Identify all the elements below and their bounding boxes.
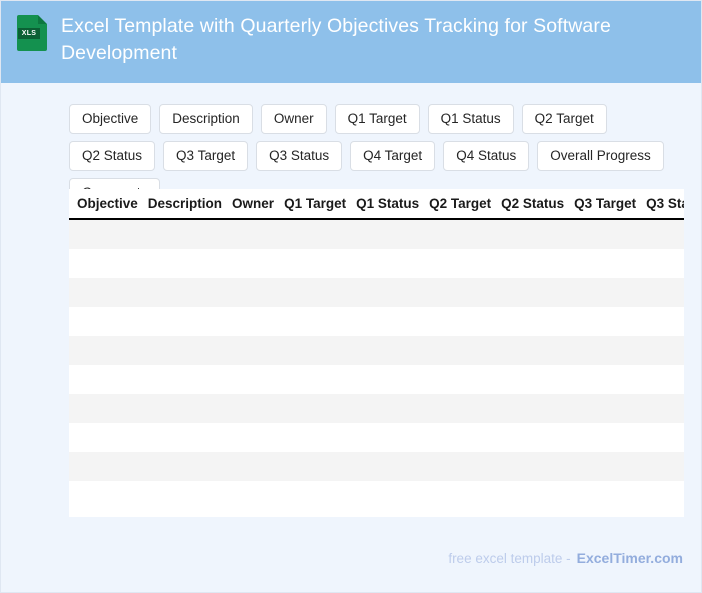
table-cell[interactable] — [429, 394, 501, 423]
table-cell[interactable] — [232, 365, 284, 394]
table-cell[interactable] — [232, 249, 284, 278]
table-cell[interactable] — [356, 249, 429, 278]
table-cell[interactable] — [646, 336, 684, 365]
table-cell[interactable] — [232, 481, 284, 510]
table-cell[interactable] — [356, 219, 429, 249]
table-cell[interactable] — [429, 481, 501, 510]
table-cell[interactable] — [69, 452, 148, 481]
table-cell[interactable] — [284, 365, 356, 394]
table-cell[interactable] — [646, 423, 684, 452]
table-cell[interactable] — [148, 394, 232, 423]
table-cell[interactable] — [284, 423, 356, 452]
table-cell[interactable] — [574, 452, 646, 481]
column-chip[interactable]: Description — [159, 104, 253, 134]
table-row[interactable] — [69, 336, 684, 365]
column-chip[interactable]: Q4 Target — [350, 141, 435, 171]
table-cell[interactable] — [574, 307, 646, 336]
table-cell[interactable] — [356, 307, 429, 336]
table-row[interactable] — [69, 307, 684, 336]
table-row[interactable] — [69, 249, 684, 278]
table-cell[interactable] — [646, 481, 684, 510]
xls-file-icon: XLS — [17, 15, 47, 51]
table-cell[interactable] — [69, 481, 148, 510]
table-cell[interactable] — [501, 219, 574, 249]
table-row[interactable] — [69, 394, 684, 423]
table-cell[interactable] — [284, 278, 356, 307]
table-cell[interactable] — [284, 307, 356, 336]
column-chip[interactable]: Q2 Target — [522, 104, 607, 134]
table-cell[interactable] — [429, 249, 501, 278]
table-cell[interactable] — [284, 394, 356, 423]
column-chip[interactable]: Objective — [69, 104, 151, 134]
table-row[interactable] — [69, 365, 684, 394]
table-cell[interactable] — [429, 365, 501, 394]
page-title: Excel Template with Quarterly Objectives… — [61, 13, 681, 67]
table-cell[interactable] — [501, 249, 574, 278]
table-cell[interactable] — [69, 394, 148, 423]
table-column-header: Q2 Target — [429, 189, 501, 219]
table-cell[interactable] — [69, 219, 148, 249]
table-column-header: Q2 Status — [501, 189, 574, 219]
table-cell[interactable] — [232, 336, 284, 365]
table-cell[interactable] — [646, 365, 684, 394]
table-cell[interactable] — [574, 481, 646, 510]
table-cell[interactable] — [429, 423, 501, 452]
table-cell[interactable] — [232, 219, 284, 249]
table-row[interactable] — [69, 278, 684, 307]
table-cell[interactable] — [148, 423, 232, 452]
table-cell[interactable] — [574, 394, 646, 423]
table-cell[interactable] — [574, 278, 646, 307]
table-cell[interactable] — [646, 452, 684, 481]
table-cell[interactable] — [574, 219, 646, 249]
table-cell[interactable] — [232, 278, 284, 307]
table-cell[interactable] — [646, 307, 684, 336]
table-cell[interactable] — [356, 394, 429, 423]
table-cell[interactable] — [646, 394, 684, 423]
table-cell[interactable] — [501, 336, 574, 365]
table-column-header: Owner — [232, 189, 284, 219]
table-cell[interactable] — [501, 278, 574, 307]
column-chip[interactable]: Q1 Target — [335, 104, 420, 134]
table-cell[interactable] — [429, 452, 501, 481]
table-cell[interactable] — [356, 365, 429, 394]
template-table: ObjectiveDescriptionOwnerQ1 TargetQ1 Sta… — [69, 189, 684, 510]
table-column-header: Q3 Status — [646, 189, 684, 219]
table-column-header: Q1 Status — [356, 189, 429, 219]
footer-brand-link[interactable]: ExcelTimer.com — [577, 550, 683, 566]
table-cell[interactable] — [501, 307, 574, 336]
table-cell[interactable] — [284, 219, 356, 249]
table-cell[interactable] — [574, 423, 646, 452]
table-cell[interactable] — [284, 452, 356, 481]
table-column-header: Objective — [69, 189, 148, 219]
table-cell[interactable] — [232, 394, 284, 423]
table-cell[interactable] — [356, 423, 429, 452]
table-cell[interactable] — [284, 249, 356, 278]
table-cell[interactable] — [356, 452, 429, 481]
table-column-header: Q1 Target — [284, 189, 356, 219]
table-cell[interactable] — [429, 219, 501, 249]
table-cell[interactable] — [148, 307, 232, 336]
template-table-container: ObjectiveDescriptionOwnerQ1 TargetQ1 Sta… — [69, 189, 684, 517]
template-page: XLS Excel Template with Quarterly Object… — [0, 0, 702, 593]
table-header-row: ObjectiveDescriptionOwnerQ1 TargetQ1 Sta… — [69, 189, 684, 219]
column-chip[interactable]: Q3 Target — [163, 141, 248, 171]
column-chip[interactable]: Q2 Status — [69, 141, 155, 171]
table-cell[interactable] — [69, 249, 148, 278]
table-cell[interactable] — [356, 481, 429, 510]
table-cell[interactable] — [69, 365, 148, 394]
table-cell[interactable] — [148, 365, 232, 394]
table-row[interactable] — [69, 219, 684, 249]
table-cell[interactable] — [232, 423, 284, 452]
table-cell[interactable] — [501, 452, 574, 481]
table-cell[interactable] — [574, 336, 646, 365]
table-cell[interactable] — [148, 452, 232, 481]
column-chip[interactable]: Overall Progress — [537, 141, 664, 171]
table-cell[interactable] — [148, 481, 232, 510]
table-cell[interactable] — [501, 365, 574, 394]
column-chip[interactable]: Q4 Status — [443, 141, 529, 171]
footer-lead-text: free excel template - — [448, 551, 570, 566]
table-cell[interactable] — [574, 249, 646, 278]
table-column-header: Description — [148, 189, 232, 219]
column-chip[interactable]: Owner — [261, 104, 327, 134]
table-cell[interactable] — [646, 219, 684, 249]
table-row[interactable] — [69, 452, 684, 481]
table-cell[interactable] — [356, 336, 429, 365]
table-row[interactable] — [69, 423, 684, 452]
table-cell[interactable] — [646, 278, 684, 307]
page-header: XLS Excel Template with Quarterly Object… — [1, 1, 702, 83]
column-chip[interactable]: Q1 Status — [428, 104, 514, 134]
table-cell[interactable] — [356, 278, 429, 307]
table-row[interactable] — [69, 481, 684, 510]
table-cell[interactable] — [148, 278, 232, 307]
table-cell[interactable] — [284, 481, 356, 510]
table-cell[interactable] — [429, 278, 501, 307]
table-header: ObjectiveDescriptionOwnerQ1 TargetQ1 Sta… — [69, 189, 684, 219]
xls-badge-label: XLS — [18, 28, 40, 39]
table-cell[interactable] — [429, 307, 501, 336]
table-cell[interactable] — [232, 452, 284, 481]
table-cell[interactable] — [148, 249, 232, 278]
table-cell[interactable] — [232, 307, 284, 336]
table-cell[interactable] — [574, 365, 646, 394]
table-cell[interactable] — [501, 423, 574, 452]
table-body — [69, 219, 684, 510]
table-cell[interactable] — [69, 423, 148, 452]
table-cell[interactable] — [148, 336, 232, 365]
table-cell[interactable] — [69, 278, 148, 307]
table-cell[interactable] — [501, 394, 574, 423]
table-cell[interactable] — [429, 336, 501, 365]
table-cell[interactable] — [646, 249, 684, 278]
column-chip[interactable]: Q3 Status — [256, 141, 342, 171]
footer-credit: free excel template - ExcelTimer.com — [448, 550, 683, 566]
table-cell[interactable] — [284, 336, 356, 365]
table-cell[interactable] — [501, 481, 574, 510]
table-cell[interactable] — [69, 336, 148, 365]
table-cell[interactable] — [69, 307, 148, 336]
table-column-header: Q3 Target — [574, 189, 646, 219]
table-cell[interactable] — [148, 219, 232, 249]
